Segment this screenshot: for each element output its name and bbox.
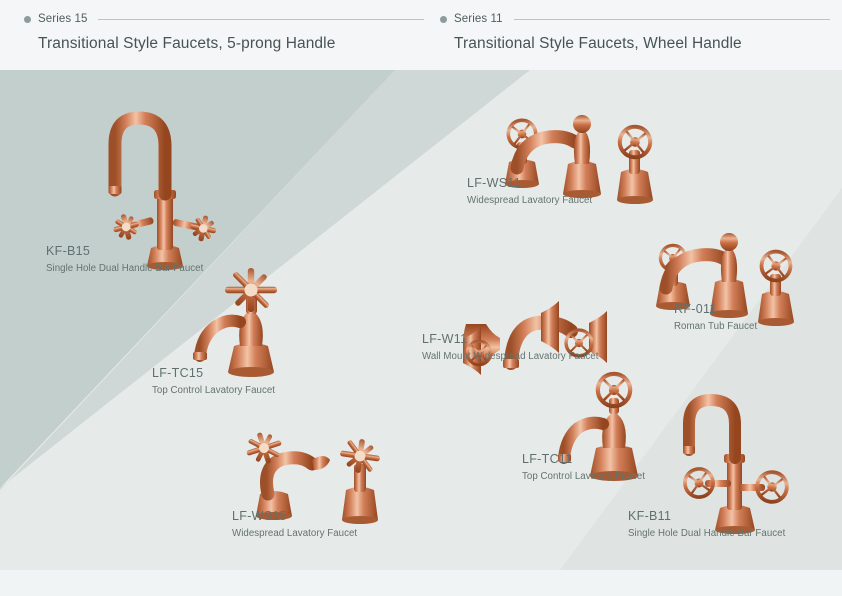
- series-title-15: Transitional Style Faucets, 5-prong Hand…: [38, 35, 424, 53]
- product-code: LF-WS11: [467, 177, 592, 191]
- product-label-lf-ws15: LF-WS15 Widespread Lavatory Faucet: [232, 510, 357, 539]
- product-description: Roman Tub Faucet: [674, 322, 757, 333]
- product-code: LF-TC11: [522, 453, 645, 467]
- catalog-page: Series 15 Transitional Style Faucets, 5-…: [0, 0, 842, 596]
- product-code: KF-B15: [46, 245, 203, 259]
- product-code: LF-W11: [422, 333, 598, 347]
- catalog-header: Series 15 Transitional Style Faucets, 5-…: [0, 0, 842, 70]
- series-kicker-label-11: Series 11: [454, 13, 503, 25]
- product-code: LF-WS15: [232, 510, 357, 524]
- product-code: KF-B11: [628, 510, 785, 524]
- product-description: Top Control Lavatory Faucet: [522, 472, 645, 483]
- product-description: Widespread Lavatory Faucet: [232, 529, 357, 540]
- product-code: LF-TC15: [152, 367, 275, 381]
- series-kicker-label-15: Series 15: [38, 13, 87, 25]
- catalog-footer: [0, 570, 842, 596]
- product-description: Widespread Lavatory Faucet: [467, 196, 592, 207]
- product-label-rf-011: RF-011 Roman Tub Faucet: [674, 303, 757, 332]
- series-rule-15: [98, 19, 424, 20]
- product-label-kf-b15: KF-B15 Single Hole Dual Handle Bar Fauce…: [46, 245, 203, 274]
- series-header-15: Series 15 Transitional Style Faucets, 5-…: [24, 12, 424, 53]
- product-label-lf-tc15: LF-TC15 Top Control Lavatory Faucet: [152, 367, 275, 396]
- product-label-lf-ws11: LF-WS11 Widespread Lavatory Faucet: [467, 177, 592, 206]
- series-rule-11: [514, 19, 830, 20]
- product-description: Top Control Lavatory Faucet: [152, 386, 275, 397]
- series-title-11: Transitional Style Faucets, Wheel Handle: [454, 35, 830, 53]
- series-kicker-15: Series 15: [24, 12, 424, 26]
- product-label-kf-b11: KF-B11 Single Hole Dual Handle Bar Fauce…: [628, 510, 785, 539]
- series-kicker-11: Series 11: [440, 12, 830, 26]
- product-stage: KF-B15 Single Hole Dual Handle Bar Fauce…: [0, 70, 842, 570]
- product-description: Single Hole Dual Handle Bar Faucet: [628, 529, 785, 540]
- faucet-image-lf-tc15: [188, 260, 308, 380]
- lf-tc15-art: [188, 260, 308, 380]
- series-bullet-dot-icon: [440, 16, 447, 23]
- product-description: Single Hole Dual Handle Bar Faucet: [46, 264, 203, 275]
- product-description: Wall Mount Widespread Lavatory Faucet: [422, 352, 598, 363]
- product-code: RF-011: [674, 303, 757, 317]
- product-label-lf-tc11: LF-TC11 Top Control Lavatory Faucet: [522, 453, 645, 482]
- product-label-lf-w11: LF-W11 Wall Mount Widespread Lavatory Fa…: [422, 333, 598, 362]
- series-header-11: Series 11 Transitional Style Faucets, Wh…: [440, 12, 830, 53]
- series-bullet-dot-icon: [24, 16, 31, 23]
